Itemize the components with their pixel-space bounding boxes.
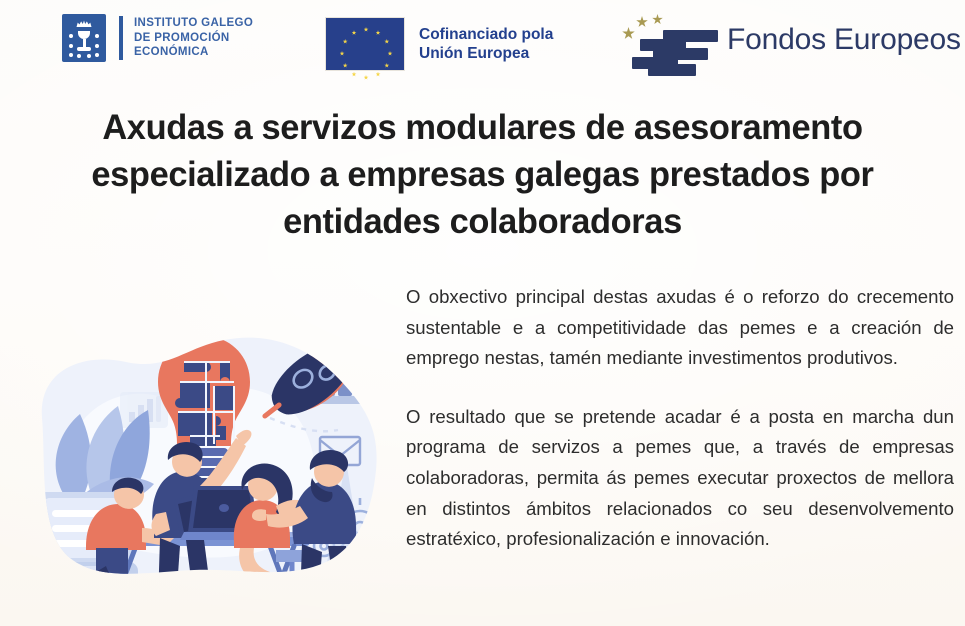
body-text-column: O obxectivo principal destas axudas é o … bbox=[406, 282, 954, 555]
logo-igape-label: INSTITUTO GALEGO DE PROMOCIÓN ECONÓMICA bbox=[134, 16, 253, 60]
logo-igape: INSTITUTO GALEGO DE PROMOCIÓN ECONÓMICA bbox=[62, 14, 253, 62]
page-title: Axudas a servizos modulares de asesorame… bbox=[44, 104, 922, 245]
paragraph-result: O resultado que se pretende acadar é a p… bbox=[406, 402, 954, 555]
logo-european-union: Cofinanciado pola Unión Europea bbox=[325, 17, 553, 71]
logo-european-union-label: Cofinanciado pola Unión Europea bbox=[419, 25, 553, 63]
logo-divider bbox=[119, 16, 123, 60]
team-collaboration-illustration bbox=[8, 300, 400, 618]
paragraph-objective: O obxectivo principal destas axudas é o … bbox=[406, 282, 954, 374]
xunta-de-galicia-coat-of-arms-icon bbox=[62, 14, 106, 62]
logo-bar: INSTITUTO GALEGO DE PROMOCIÓN ECONÓMICA … bbox=[0, 0, 965, 84]
european-union-flag-icon bbox=[325, 17, 405, 71]
stepped-bars-icon bbox=[618, 8, 718, 72]
poster-page: INSTITUTO GALEGO DE PROMOCIÓN ECONÓMICA … bbox=[0, 0, 965, 626]
logo-fondos-europeos-label: Fondos Europeos bbox=[727, 23, 961, 57]
logo-fondos-europeos: Fondos Europeos bbox=[618, 8, 961, 72]
